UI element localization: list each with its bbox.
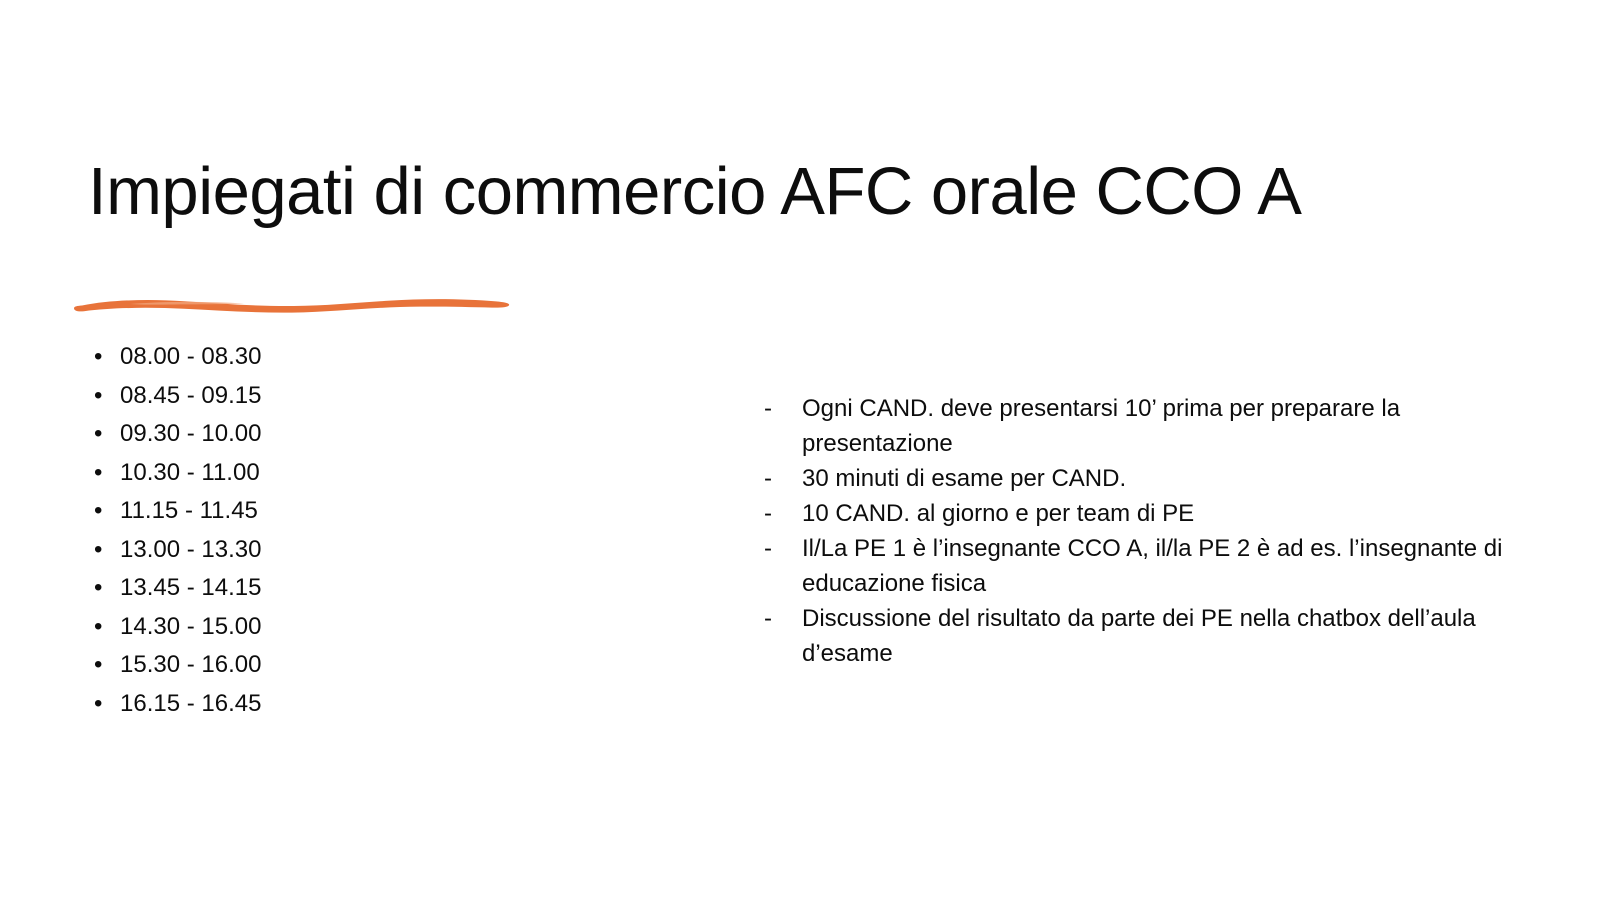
list-item: • 09.30 - 10.00 bbox=[88, 415, 508, 454]
time-slot-label: 09.30 - 10.00 bbox=[120, 420, 261, 447]
note-text: Ogni CAND. deve presentarsi 10’ prima pe… bbox=[802, 395, 1400, 457]
list-item: - Il/La PE 1 è l’insegnante CCO A, il/la… bbox=[762, 531, 1522, 601]
time-slot-label: 10.30 - 11.00 bbox=[120, 459, 260, 486]
time-slot-label: 15.30 - 16.00 bbox=[120, 651, 261, 678]
list-item: • 13.45 - 14.15 bbox=[88, 569, 508, 608]
schedule-time-slot-list: • 08.00 - 08.30 • 08.45 - 09.15 • 09.30 … bbox=[88, 338, 508, 723]
exam-notes-list: - Ogni CAND. deve presentarsi 10’ prima … bbox=[762, 391, 1522, 671]
list-item: • 10.30 - 11.00 bbox=[88, 454, 508, 493]
list-item: • 08.45 - 09.15 bbox=[88, 377, 508, 416]
bullet-icon: • bbox=[94, 377, 102, 416]
bullet-icon: • bbox=[94, 569, 102, 608]
list-item: • 16.15 - 16.45 bbox=[88, 685, 508, 724]
bullet-icon: • bbox=[94, 454, 102, 493]
list-item: - 10 CAND. al giorno e per team di PE bbox=[762, 496, 1522, 531]
bullet-icon: • bbox=[94, 646, 102, 685]
presentation-slide: Impiegati di commercio AFC orale CCO A •… bbox=[0, 0, 1600, 900]
dash-icon: - bbox=[764, 391, 772, 426]
list-item: - 30 minuti di esame per CAND. bbox=[762, 461, 1522, 496]
time-slot-label: 14.30 - 15.00 bbox=[120, 613, 261, 640]
dash-icon: - bbox=[764, 461, 772, 496]
dash-icon: - bbox=[764, 601, 772, 636]
list-item: • 08.00 - 08.30 bbox=[88, 338, 508, 377]
bullet-icon: • bbox=[94, 338, 102, 377]
bullet-icon: • bbox=[94, 531, 102, 570]
list-item: • 14.30 - 15.00 bbox=[88, 608, 508, 647]
time-slot-label: 16.15 - 16.45 bbox=[120, 690, 261, 717]
list-item: • 11.15 - 11.45 bbox=[88, 492, 508, 531]
orange-underline-accent bbox=[72, 283, 522, 323]
list-item: • 15.30 - 16.00 bbox=[88, 646, 508, 685]
dash-icon: - bbox=[764, 531, 772, 566]
note-text: 10 CAND. al giorno e per team di PE bbox=[802, 500, 1194, 527]
bullet-icon: • bbox=[94, 608, 102, 647]
note-text: Discussione del risultato da parte dei P… bbox=[802, 605, 1476, 667]
time-slot-label: 13.45 - 14.15 bbox=[120, 574, 261, 601]
time-slot-label: 13.00 - 13.30 bbox=[120, 536, 261, 563]
bullet-icon: • bbox=[94, 685, 102, 724]
slide-title: Impiegati di commercio AFC orale CCO A bbox=[88, 155, 1468, 229]
note-text: 30 minuti di esame per CAND. bbox=[802, 465, 1126, 492]
bullet-icon: • bbox=[94, 415, 102, 454]
time-slot-label: 11.15 - 11.45 bbox=[120, 497, 258, 524]
list-item: • 13.00 - 13.30 bbox=[88, 531, 508, 570]
list-item: - Discussione del risultato da parte dei… bbox=[762, 601, 1522, 671]
time-slot-label: 08.45 - 09.15 bbox=[120, 382, 261, 409]
bullet-icon: • bbox=[94, 492, 102, 531]
time-slot-label: 08.00 - 08.30 bbox=[120, 343, 261, 370]
note-text: Il/La PE 1 è l’insegnante CCO A, il/la P… bbox=[802, 535, 1502, 597]
dash-icon: - bbox=[764, 496, 772, 531]
list-item: - Ogni CAND. deve presentarsi 10’ prima … bbox=[762, 391, 1522, 461]
